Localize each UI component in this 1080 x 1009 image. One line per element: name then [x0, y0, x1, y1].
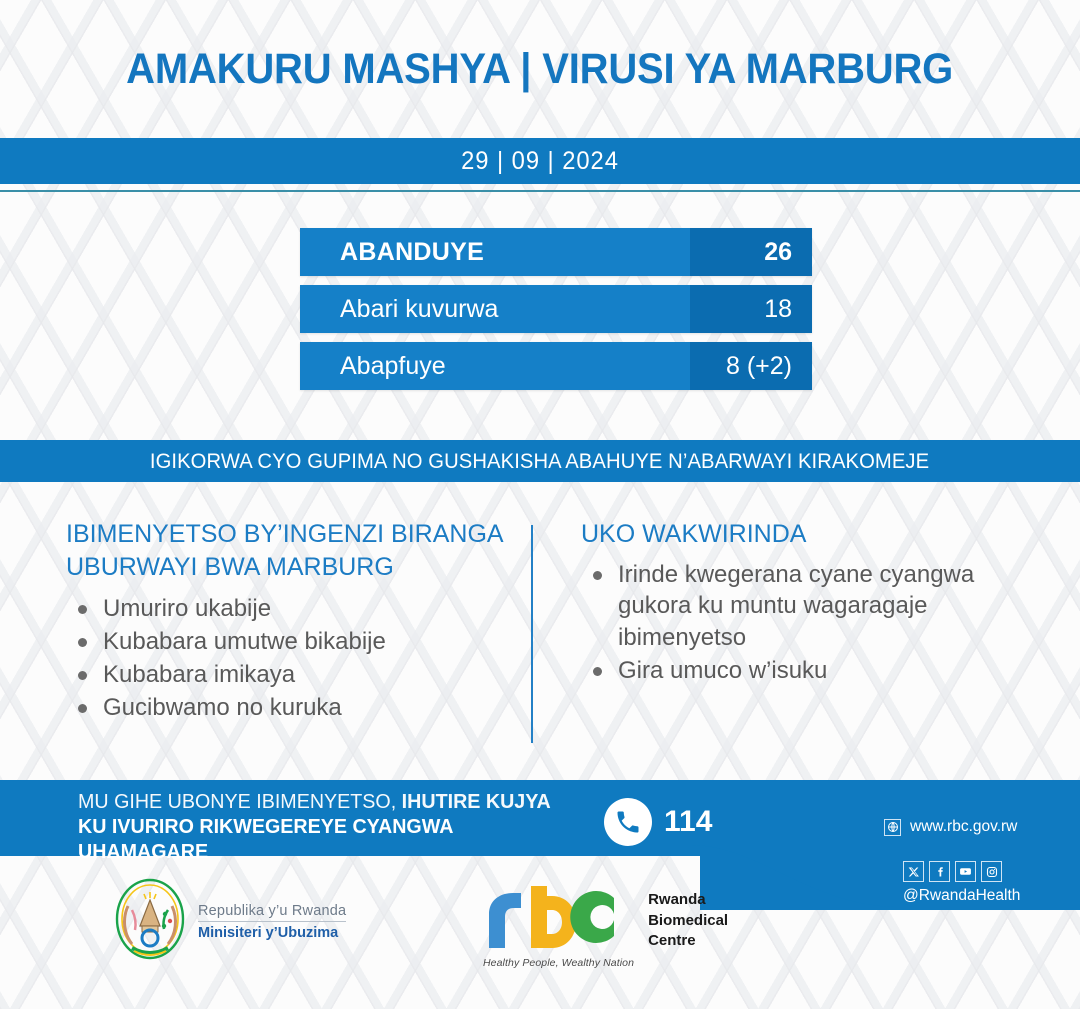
stat-value: 26 — [690, 228, 812, 276]
stat-label: ABANDUYE — [300, 228, 690, 276]
youtube-icon[interactable] — [955, 861, 976, 882]
stat-value: 8 (+2) — [690, 342, 812, 390]
list-item: Kubabara imikaya — [66, 659, 516, 691]
government-logo: Republika y’u Rwanda Minisiteri y’Ubuzim… — [112, 876, 346, 967]
symptoms-list: Umuriro ukabije Kubabara umutwe bikabije… — [66, 593, 516, 724]
info-columns: IBIMENYETSO BY’INGENZI BIRANGA UBURWAYI … — [0, 518, 1080, 758]
announcement-strip: IGIKORWA CYO GUPIMA NO GUSHAKISHA ABAHUY… — [0, 440, 1080, 482]
prevention-heading: UKO WAKWIRINDA — [581, 518, 1026, 551]
page-title: AMAKURU MASHYA | VIRUSI YA MARBURG — [127, 45, 954, 94]
stat-label: Abapfuye — [300, 342, 690, 390]
hotline-number: 114 — [664, 805, 712, 839]
stat-label: Abari kuvurwa — [300, 285, 690, 333]
government-logo-text: Republika y’u Rwanda Minisiteri y’Ubuzim… — [198, 903, 346, 941]
date-band: 29 | 09 | 2024 — [0, 138, 1080, 184]
list-item: Gira umuco w’isuku — [581, 655, 1026, 687]
announcement-text: IGIKORWA CYO GUPIMA NO GUSHAKISHA ABAHUY… — [150, 449, 929, 474]
website-line[interactable]: www.rbc.gov.rw — [884, 818, 1017, 836]
column-divider — [531, 525, 533, 743]
header-title-area: AMAKURU MASHYA | VIRUSI YA MARBURG — [0, 0, 1080, 138]
table-row: Abari kuvurwa 18 — [300, 285, 812, 333]
rwanda-coat-of-arms-icon — [112, 876, 188, 967]
prevention-column: UKO WAKWIRINDA Irinde kwegerana cyane cy… — [581, 518, 1026, 688]
table-row: ABANDUYE 26 — [300, 228, 812, 276]
social-icons-row[interactable] — [903, 861, 1002, 882]
rbc-name-line-1: Rwanda — [648, 890, 728, 911]
teal-divider-rule — [0, 190, 1080, 192]
list-item: Irinde kwegerana cyane cyangwa gukora ku… — [581, 559, 1026, 655]
government-line-1: Republika y’u Rwanda — [198, 903, 346, 922]
x-icon[interactable] — [903, 861, 924, 882]
hotline-group[interactable]: 114 — [604, 798, 712, 846]
list-item: Umuriro ukabije — [66, 593, 516, 625]
list-item: Kubabara umutwe bikabije — [66, 626, 516, 658]
rbc-mark-icon — [483, 884, 634, 955]
website-url: www.rbc.gov.rw — [910, 818, 1017, 836]
prevention-list: Irinde kwegerana cyane cyangwa gukora ku… — [581, 559, 1026, 688]
social-handle: @RwandaHealth — [903, 887, 1020, 905]
government-line-2: Minisiteri y’Ubuzima — [198, 922, 346, 941]
symptoms-heading: IBIMENYETSO BY’INGENZI BIRANGA UBURWAYI … — [66, 518, 516, 583]
cta-line1-plain: MU GIHE UBONYE IBIMENYETSO, — [78, 790, 402, 813]
rbc-name-line-2: Biomedical — [648, 911, 728, 932]
cta-text-block: MU GIHE UBONYE IBIMENYETSO, IHUTIRE KUJY… — [78, 789, 598, 864]
cta-line-1: MU GIHE UBONYE IBIMENYETSO, IHUTIRE KUJY… — [78, 789, 577, 814]
globe-icon — [884, 819, 901, 836]
rbc-logo: Healthy People, Wealthy Nation Rwanda Bi… — [483, 884, 728, 969]
rbc-tagline: Healthy People, Wealthy Nation — [483, 957, 634, 969]
footer-curve-shape — [690, 845, 1080, 925]
rbc-name-text: Rwanda Biomedical Centre — [648, 884, 728, 952]
cta-line1-bold: IHUTIRE KUJYA — [402, 790, 551, 813]
facebook-icon[interactable] — [929, 861, 950, 882]
cta-line-2: KU IVURIRO RIKWEGEREYE CYANGWA UHAMAGARE — [78, 814, 577, 864]
phone-icon — [604, 798, 652, 846]
table-row: Abapfuye 8 (+2) — [300, 342, 812, 390]
instagram-icon[interactable] — [981, 861, 1002, 882]
symptoms-column: IBIMENYETSO BY’INGENZI BIRANGA UBURWAYI … — [66, 518, 516, 725]
infographic-page: AMAKURU MASHYA | VIRUSI YA MARBURG 29 | … — [0, 0, 1080, 1009]
statistics-table: ABANDUYE 26 Abari kuvurwa 18 Abapfuye 8 … — [300, 228, 812, 390]
rbc-name-line-3: Centre — [648, 931, 728, 952]
date-text: 29 | 09 | 2024 — [461, 147, 619, 176]
rbc-mark-group: Healthy People, Wealthy Nation — [483, 884, 634, 969]
stat-value: 18 — [690, 285, 812, 333]
list-item: Gucibwamo no kuruka — [66, 692, 516, 724]
